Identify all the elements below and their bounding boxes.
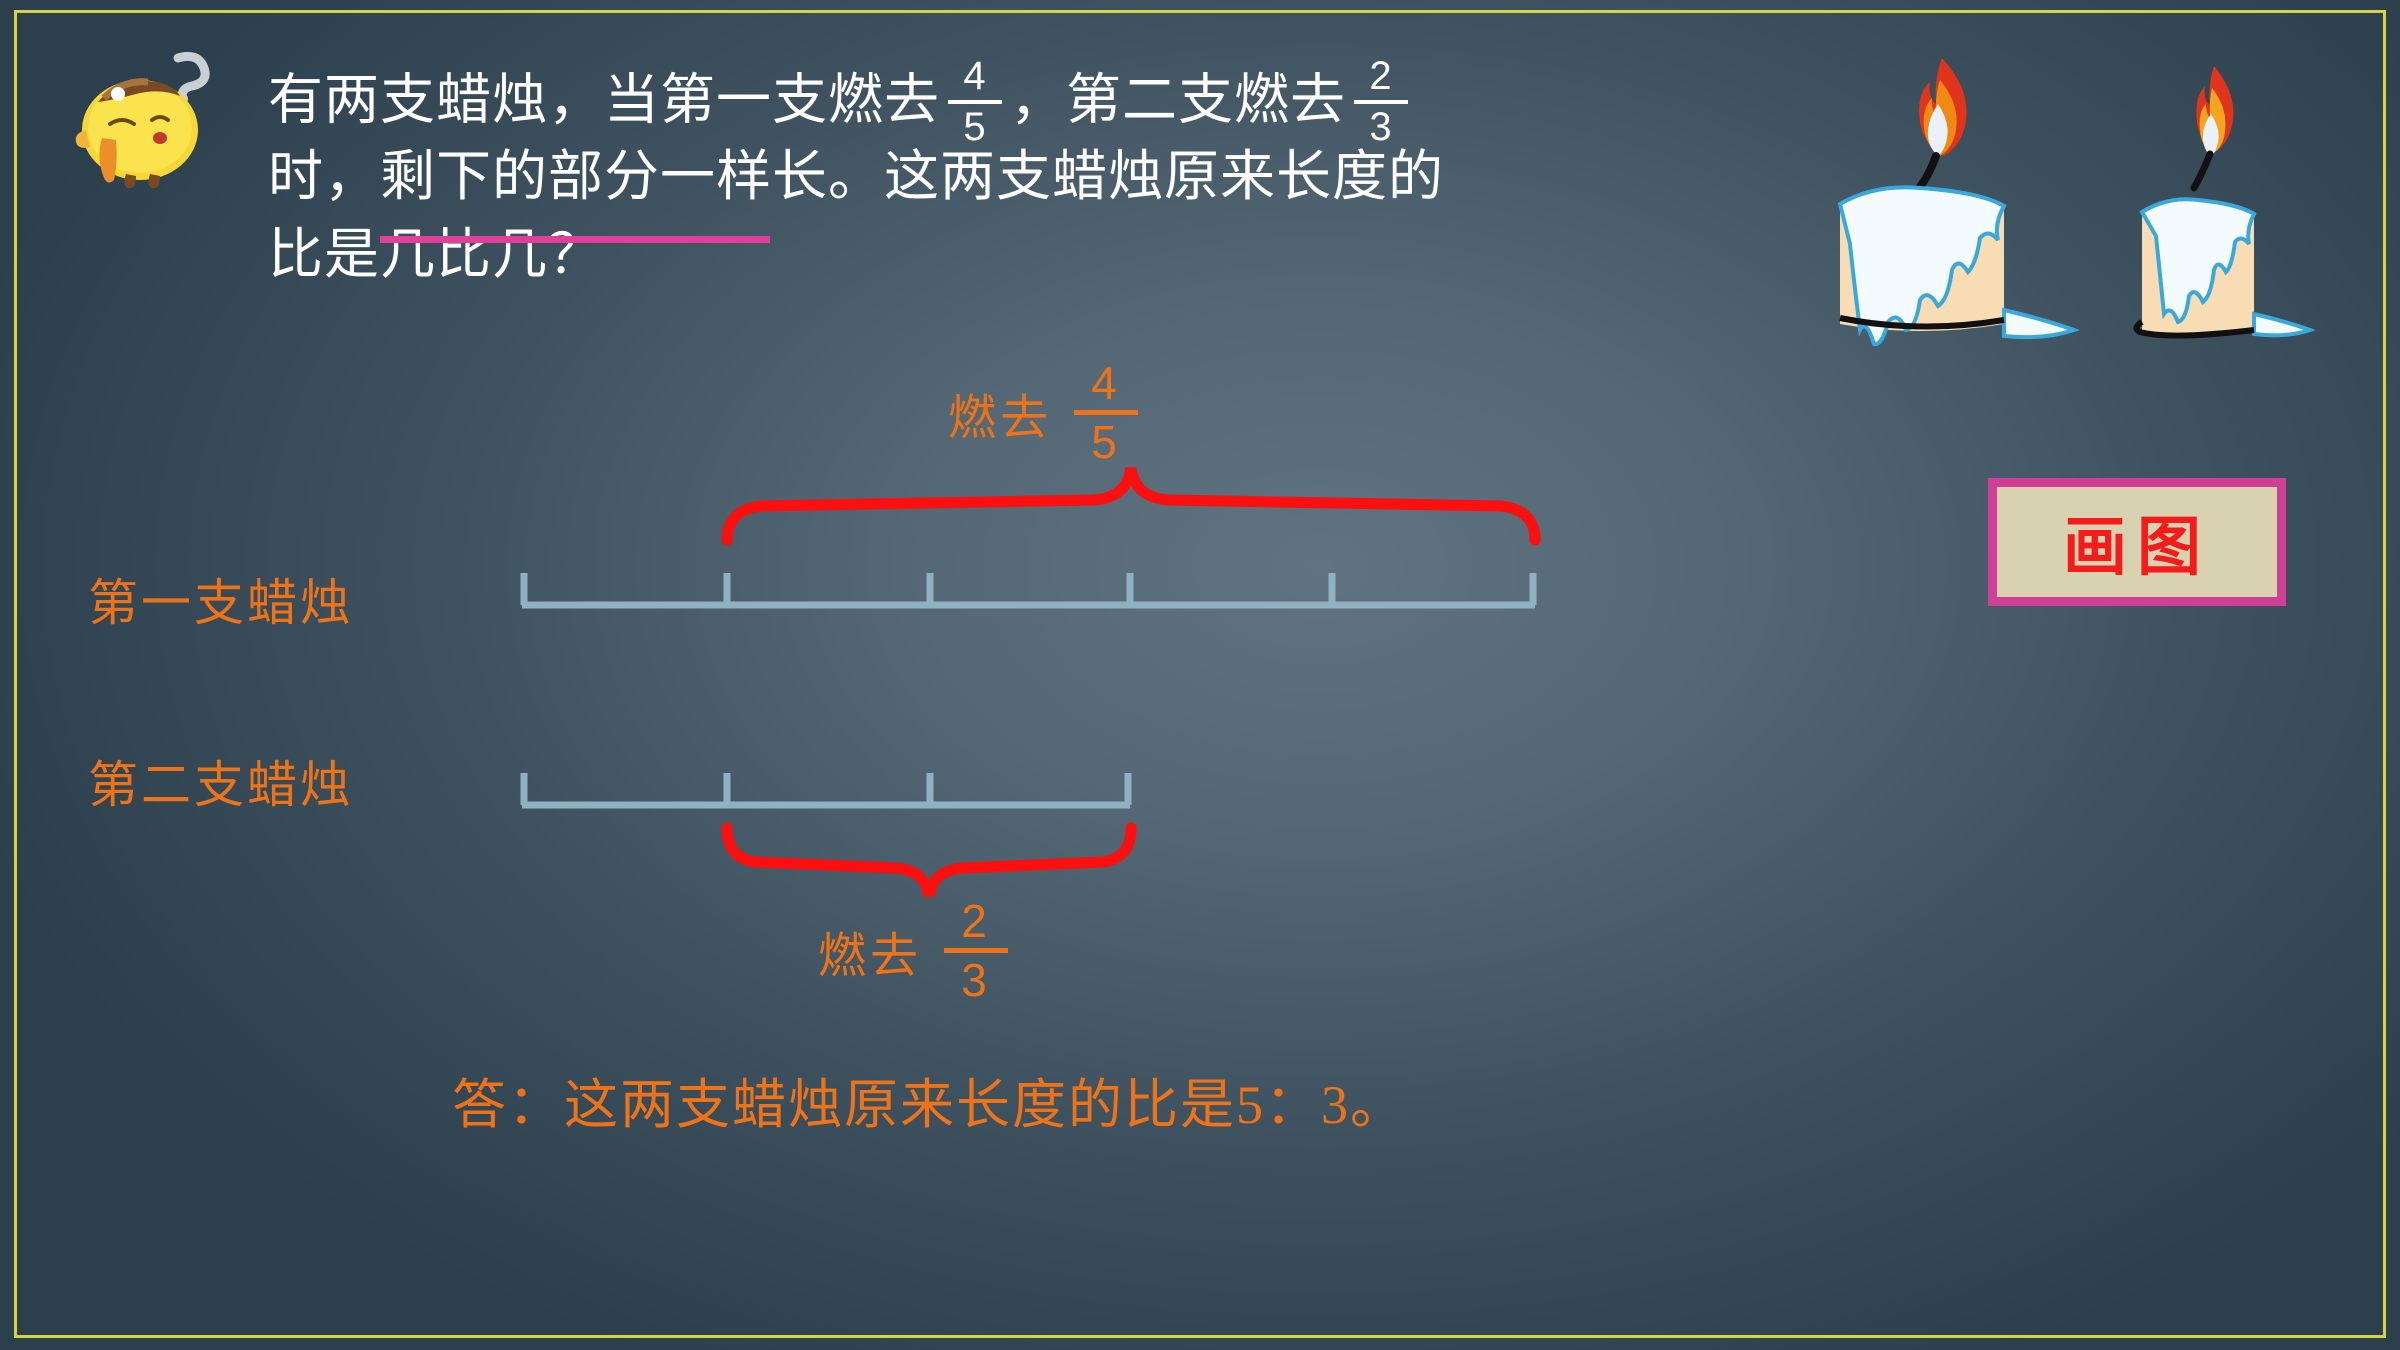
bar1-label: 第一支蜡烛: [88, 563, 353, 635]
problem-line-3: 比是几比几？: [268, 216, 1808, 294]
bar1-red-brace: [727, 468, 1535, 540]
problem-line-2: 时，剩下的部分一样长。这两支蜡烛原来长度的: [268, 138, 1808, 216]
candle-illustrations: [1822, 18, 2392, 388]
problem-statement: 有两支蜡烛，当第一支燃去45，第二支燃去23 时，剩下的部分一样长。这两支蜡烛原…: [268, 60, 1808, 294]
bar2-label: 第二支蜡烛: [88, 745, 353, 817]
problem-line-1-text-b: ，第二支燃去: [1010, 69, 1346, 130]
slide-canvas: 有两支蜡烛，当第一支燃去45，第二支燃去23 时，剩下的部分一样长。这两支蜡烛原…: [0, 0, 2400, 1350]
answer-line: 答：这两支蜡烛原来长度的比是5：3。: [452, 1060, 1406, 1139]
bar1-brace-fraction: 4 5: [1074, 360, 1138, 465]
bar1-brace-label: 燃去 4 5: [948, 360, 1138, 465]
fraction-bar: [948, 100, 1002, 104]
problem-line-1-text-a: 有两支蜡烛，当第一支燃去: [268, 69, 940, 130]
bar2-brace-fraction: 2 3: [944, 898, 1008, 1003]
fraction-numerator: 4: [948, 56, 1002, 97]
fraction-denominator: 5: [1074, 419, 1138, 465]
bar1-graphic: [522, 573, 1535, 605]
chick-mascot-icon: [68, 42, 238, 192]
draw-diagram-button-label: 画图: [1997, 487, 2277, 597]
fraction-bar: [944, 948, 1008, 953]
fraction-bar: [1354, 100, 1408, 104]
fraction-four-fifths: 45: [948, 56, 1002, 148]
bar1-brace-label-text: 燃去: [948, 378, 1052, 448]
problem-line-1: 有两支蜡烛，当第一支燃去45，第二支燃去23: [268, 60, 1808, 138]
candle-left: [1840, 58, 2074, 344]
bar2-graphic: [522, 773, 1130, 805]
fraction-numerator: 2: [1354, 56, 1408, 97]
draw-diagram-button[interactable]: 画图: [1988, 478, 2286, 606]
fraction-denominator: 3: [944, 957, 1008, 1003]
bar2-red-brace: [727, 828, 1131, 896]
fraction-numerator: 4: [1074, 360, 1138, 406]
fraction-two-thirds: 23: [1354, 56, 1408, 148]
fraction-numerator: 2: [944, 898, 1008, 944]
emphasis-underline: [380, 236, 770, 243]
bar2-brace-label-text: 燃去: [818, 916, 922, 986]
bar2-brace-label: 燃去 2 3: [818, 898, 1008, 1003]
candle-right: [2136, 66, 2310, 336]
fraction-bar: [1074, 410, 1138, 415]
